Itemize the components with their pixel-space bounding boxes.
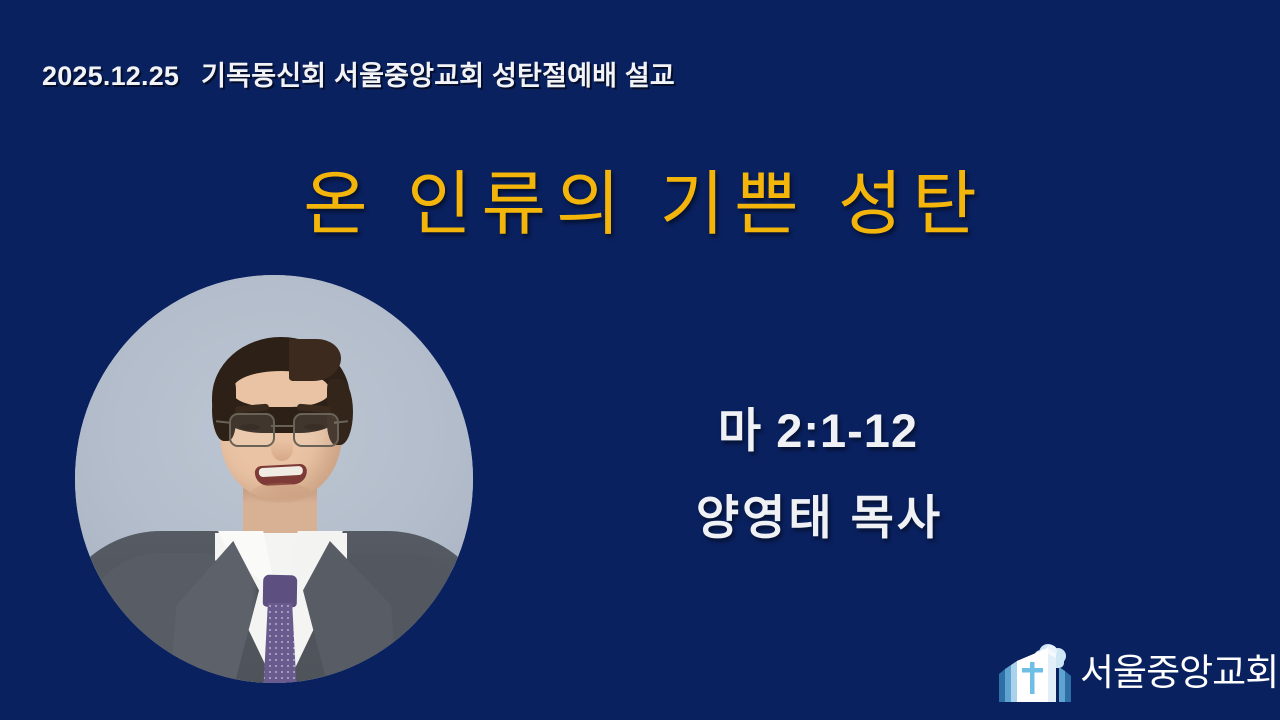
necktie-knot (263, 575, 298, 608)
glasses-lens-left (229, 413, 275, 447)
scripture-reference: 마 2:1-12 (578, 392, 1058, 461)
preacher-name: 양영태 목사 (578, 479, 1058, 548)
church-cross-icon (998, 640, 1072, 708)
preacher-photo (75, 275, 473, 683)
nose (271, 435, 293, 461)
glasses-lens-right (293, 413, 339, 447)
preacher-portrait (75, 275, 473, 683)
service-description: 기독동신회 서울중앙교회 성탄절예배 설교 (201, 61, 675, 91)
sermon-title-slide: 2025.12.25기독동신회 서울중앙교회 성탄절예배 설교 온 인류의 기쁜… (0, 0, 1280, 720)
service-date: 2025.12.25 (42, 61, 179, 91)
church-name: 서울중앙교회 (1080, 654, 1278, 695)
church-logo: 서울중앙교회 (998, 640, 1278, 708)
glasses-bridge (271, 425, 293, 427)
sermon-title: 온 인류의 기쁜 성탄 (0, 148, 1280, 249)
slide-header: 2025.12.25기독동신회 서울중앙교회 성탄절예배 설교 (42, 54, 675, 93)
teeth (259, 466, 303, 477)
chin (251, 483, 311, 503)
